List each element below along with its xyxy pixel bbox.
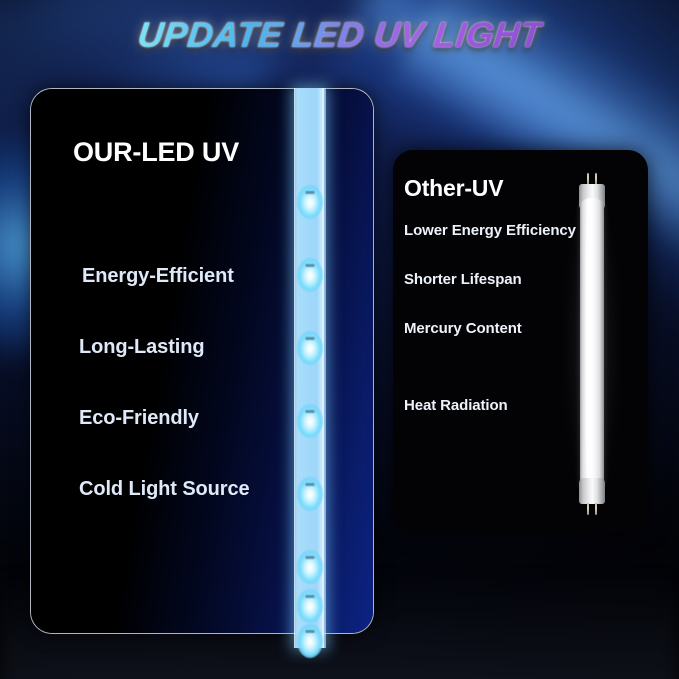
tube-highlight — [586, 206, 590, 484]
led-dot — [297, 404, 323, 438]
led-dot — [297, 331, 323, 365]
right-panel-heading: Other-UV — [404, 175, 503, 202]
fluorescent-tube-icon — [578, 172, 606, 516]
comparison-infographic: UPDATE LED UV LIGHT OUR-LED UV Energy-Ef… — [0, 0, 679, 679]
tube-cap-bottom — [579, 478, 605, 504]
list-item: Cold Light Source — [51, 454, 321, 525]
led-dot — [297, 550, 323, 584]
led-dot — [297, 258, 323, 292]
led-dot — [297, 185, 323, 219]
title-bar: UPDATE LED UV LIGHT — [0, 16, 679, 56]
tube-pin-bottom-left — [587, 503, 589, 515]
left-panel-feature-list: Energy-Efficient Long-Lasting Eco-Friend… — [51, 241, 321, 525]
tube-glass — [580, 198, 604, 490]
led-dot — [297, 589, 323, 623]
left-panel-heading: OUR-LED UV — [73, 137, 239, 168]
tube-pin-bottom-right — [595, 503, 597, 515]
list-item: Eco-Friendly — [51, 383, 321, 454]
led-dot — [297, 477, 323, 511]
led-dot — [297, 624, 323, 658]
led-strip-icon — [294, 88, 326, 648]
list-item: Energy-Efficient — [51, 241, 321, 312]
page-title: UPDATE LED UV LIGHT — [135, 16, 543, 56]
list-item: Long-Lasting — [51, 312, 321, 383]
